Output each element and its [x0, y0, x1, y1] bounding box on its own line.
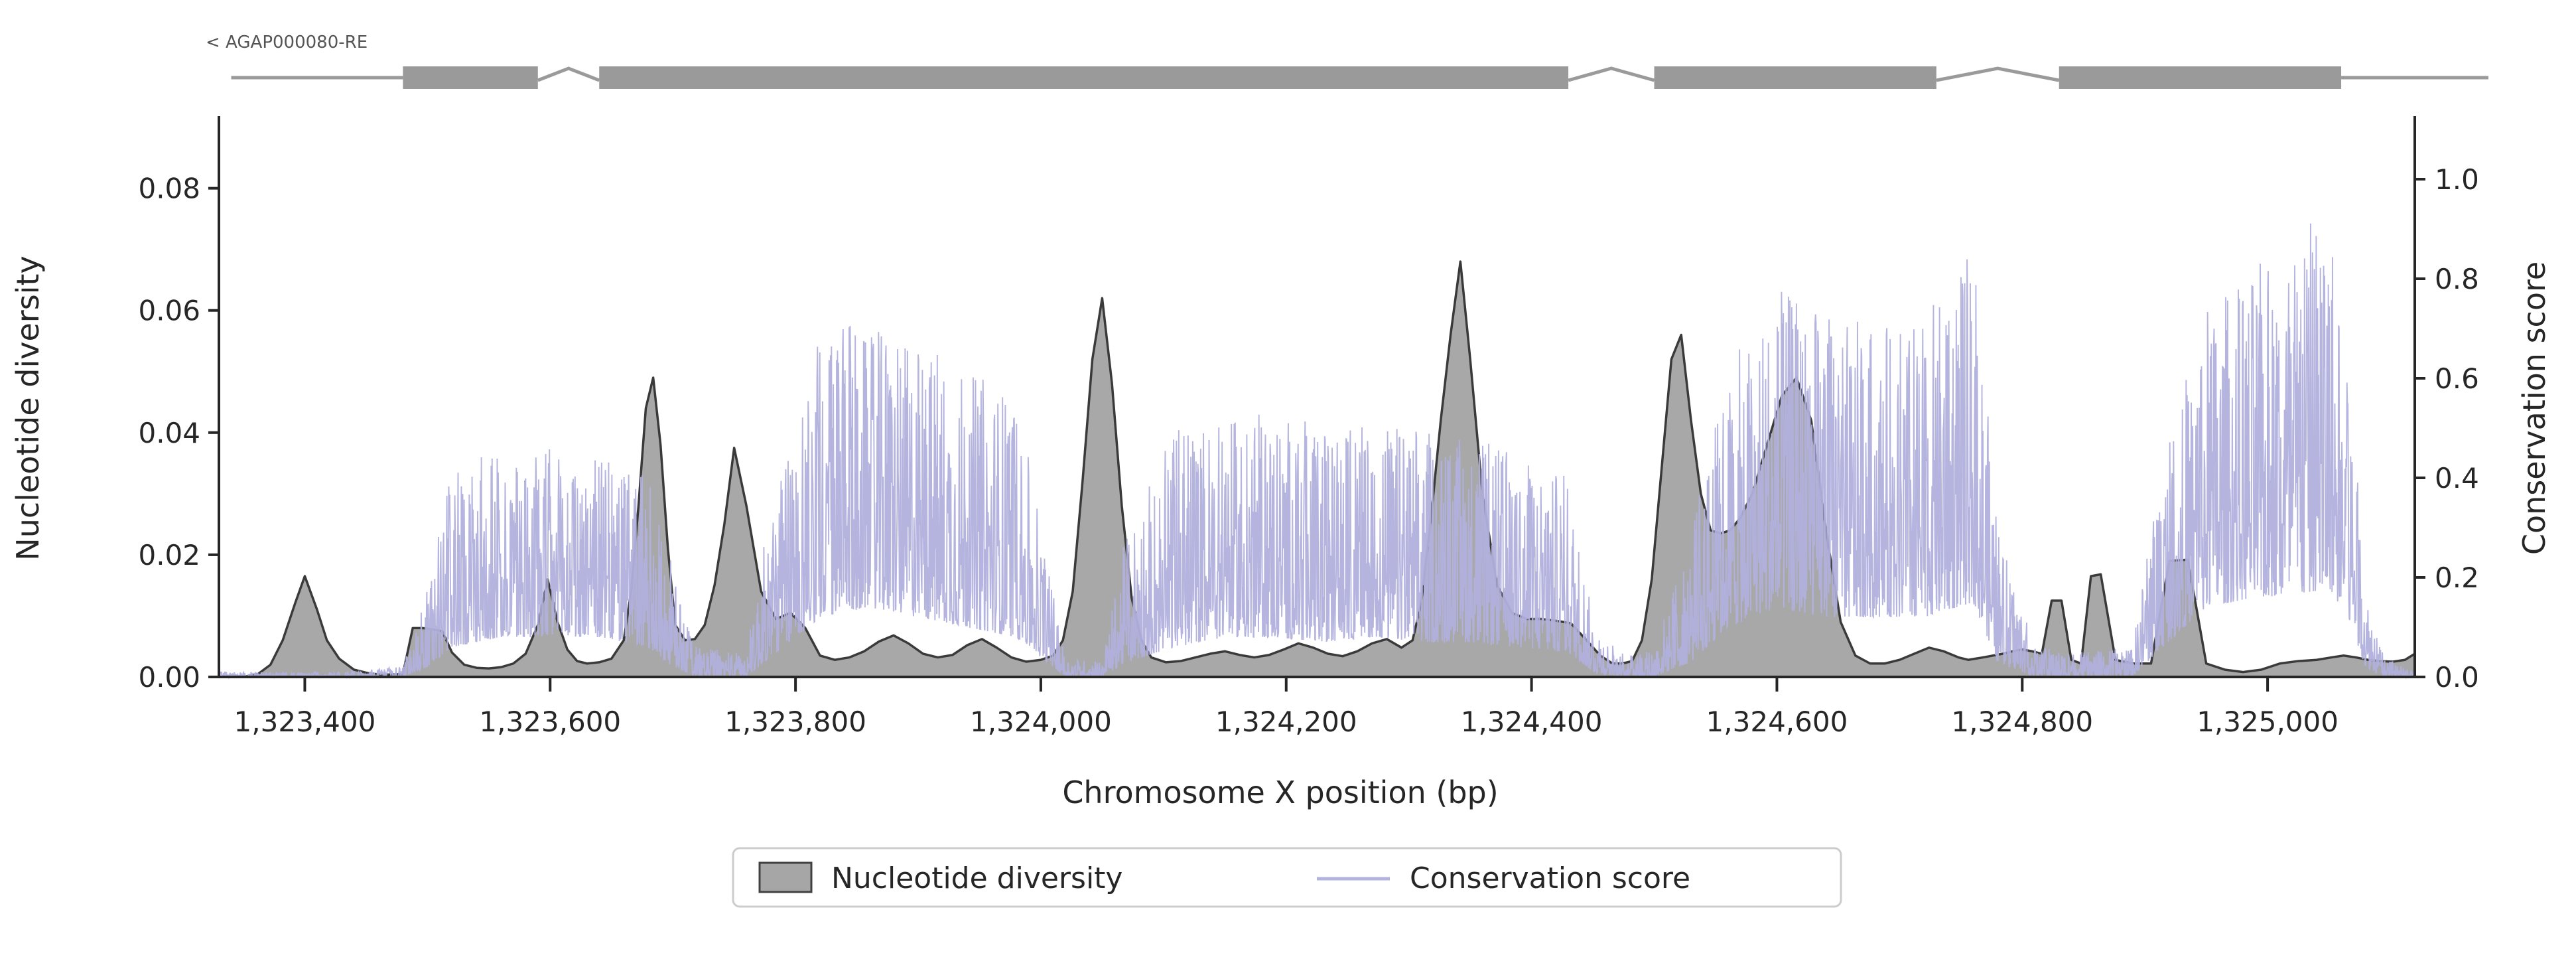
x-tick-label: 1,324,600 — [1706, 705, 1848, 738]
y-axis-label-left: Nucleotide diversity — [10, 256, 46, 560]
y-tick-label-right: 0.2 — [2435, 561, 2479, 594]
y-tick-label-right: 0.4 — [2435, 462, 2479, 494]
legend-swatch-nucleotide-diversity[interactable] — [760, 863, 811, 892]
y-tick-label-right: 1.0 — [2435, 163, 2479, 196]
y-tick-label-left: 0.02 — [138, 539, 200, 571]
y-tick-label-left: 0.08 — [138, 173, 200, 205]
x-tick-label: 1,323,800 — [724, 705, 866, 738]
figure-root: < AGAP000080-RE 0.000.020.040.060.080.00… — [0, 0, 2576, 963]
legend-label-nucleotide-diversity[interactable]: Nucleotide diversity — [831, 861, 1122, 895]
x-tick-label: 1,324,200 — [1215, 705, 1357, 738]
y-tick-label-left: 0.00 — [138, 661, 200, 694]
y-tick-label-right: 0.8 — [2435, 263, 2479, 295]
y-tick-label-left: 0.04 — [138, 417, 200, 449]
x-tick-label: 1,323,400 — [234, 705, 376, 738]
x-tick-label: 1,324,400 — [1461, 705, 1603, 738]
x-tick-label: 1,324,800 — [1951, 705, 2093, 738]
legend-label-conservation-score[interactable]: Conservation score — [1410, 861, 1690, 895]
x-axis-label: Chromosome X position (bp) — [1062, 775, 1498, 810]
chart-legend[interactable]: Nucleotide diversityConservation score — [733, 848, 1841, 907]
y-axis-label-right: Conservation score — [2516, 261, 2552, 555]
y-tick-label-right: 0.6 — [2435, 362, 2479, 395]
x-tick-label: 1,324,000 — [970, 705, 1112, 738]
x-tick-label: 1,323,600 — [479, 705, 621, 738]
chart-svg: < AGAP000080-RE 0.000.020.040.060.080.00… — [0, 0, 2576, 963]
y-tick-label-right: 0.0 — [2435, 661, 2479, 694]
x-tick-label: 1,325,000 — [2197, 705, 2339, 738]
y-tick-label-left: 0.06 — [138, 295, 200, 327]
gene-label: < AGAP000080-RE — [206, 33, 368, 52]
